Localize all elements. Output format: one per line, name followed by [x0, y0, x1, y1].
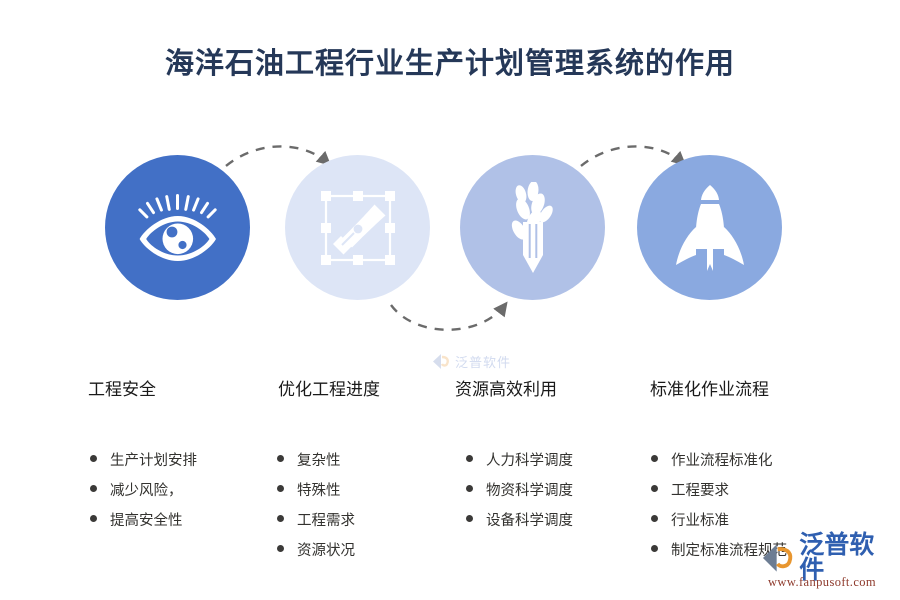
bullet-dot-icon [466, 485, 473, 492]
bullet-column-2: 复杂性 特殊性 工程需求 资源状况 [277, 449, 355, 569]
bullet-dot-icon [277, 485, 284, 492]
step-circle-1[interactable] [105, 155, 250, 300]
bullet-dot-icon [277, 455, 284, 462]
list-item-label: 人力科学调度 [486, 449, 573, 470]
list-item: 工程需求 [277, 509, 355, 530]
bullet-dot-icon [651, 455, 658, 462]
step-heading-2: 优化工程进度 [278, 375, 380, 400]
list-item-label: 工程要求 [671, 479, 729, 500]
list-item: 设备科学调度 [466, 509, 573, 530]
list-item: 生产计划安排 [90, 449, 197, 470]
bullet-dot-icon [277, 515, 284, 522]
list-item: 复杂性 [277, 449, 355, 470]
list-item: 特殊性 [277, 479, 355, 500]
list-item-label: 提高安全性 [110, 509, 183, 530]
list-item: 资源状况 [277, 539, 355, 560]
list-item: 减少风险， [90, 479, 197, 500]
step-circle-3[interactable] [460, 155, 605, 300]
list-item: 行业标准 [651, 509, 787, 530]
step-heading-1: 工程安全 [88, 375, 156, 400]
list-item-label: 减少风险， [110, 479, 183, 500]
brand-logo[interactable]: 泛普软件 www.fanpusoft.com [762, 543, 897, 593]
watermark: 泛普软件 [432, 352, 511, 371]
list-item: 人力科学调度 [466, 449, 573, 470]
list-item-label: 工程需求 [297, 509, 355, 530]
bullet-dot-icon [651, 515, 658, 522]
step-circles [0, 155, 900, 300]
pen-tool-icon [318, 188, 398, 268]
list-item: 工程要求 [651, 479, 787, 500]
pencil-leaves-icon [500, 182, 566, 274]
arrow-step2-to-step3 [391, 305, 505, 330]
step-circle-4[interactable] [637, 155, 782, 300]
bullet-dot-icon [466, 515, 473, 522]
step-heading-4: 标准化作业流程 [650, 375, 769, 400]
watermark-text: 泛普软件 [455, 352, 511, 371]
list-item-label: 特殊性 [297, 479, 341, 500]
step-heading-3: 资源高效利用 [455, 375, 557, 400]
bullet-dot-icon [90, 455, 97, 462]
watermark-logo-icon [432, 353, 452, 370]
step-circle-2[interactable] [285, 155, 430, 300]
list-item: 物资科学调度 [466, 479, 573, 500]
list-item-label: 复杂性 [297, 449, 341, 470]
page-title: 海洋石油工程行业生产计划管理系统的作用 [0, 40, 900, 82]
list-item-label: 作业流程标准化 [671, 449, 773, 470]
list-item-label: 物资科学调度 [486, 479, 573, 500]
list-item-label: 设备科学调度 [486, 509, 573, 530]
brand-logo-row: 泛普软件 [762, 543, 897, 573]
list-item-label: 资源状况 [297, 539, 355, 560]
list-item-label: 生产计划安排 [110, 449, 197, 470]
bullet-dot-icon [277, 545, 284, 552]
bullet-dot-icon [466, 455, 473, 462]
bullet-dot-icon [651, 485, 658, 492]
bullet-dot-icon [651, 545, 658, 552]
eye-icon [135, 192, 221, 264]
bullet-column-1: 生产计划安排 减少风险， 提高安全性 [90, 449, 197, 539]
bullet-dot-icon [90, 515, 97, 522]
rocket-icon [668, 183, 752, 273]
list-item-label: 行业标准 [671, 509, 729, 530]
list-item: 提高安全性 [90, 509, 197, 530]
fanpu-logo-mark-icon [762, 543, 795, 573]
list-item: 作业流程标准化 [651, 449, 787, 470]
bullet-dot-icon [90, 485, 97, 492]
bullet-column-3: 人力科学调度 物资科学调度 设备科学调度 [466, 449, 573, 539]
infographic-page: 海洋石油工程行业生产计划管理系统的作用 [0, 0, 900, 600]
step-headings: 工程安全 优化工程进度 资源高效利用 标准化作业流程 [0, 375, 900, 401]
